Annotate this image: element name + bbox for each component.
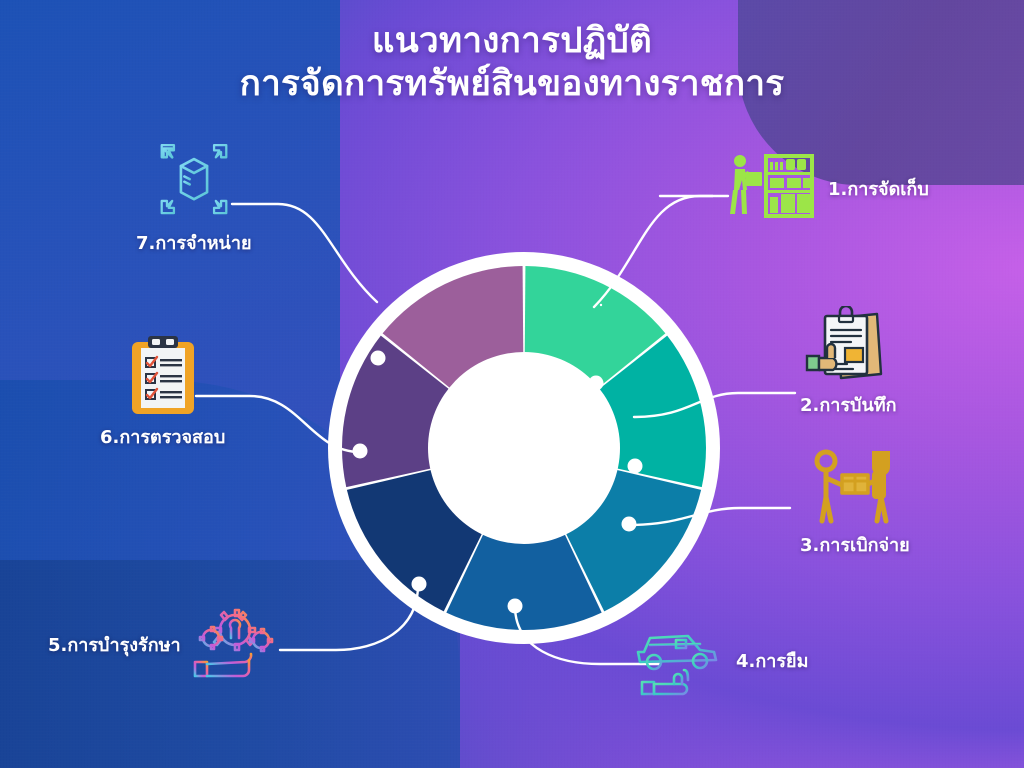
step-node-6[interactable]: 6.การตรวจสอบ [100, 336, 225, 451]
step-node-1[interactable]: 1.การจัดเก็บ [724, 148, 929, 228]
step-node-3[interactable]: 3.การเบิกจ่าย [800, 446, 910, 559]
car-hand-borrow-icon [630, 620, 726, 700]
dot-step-1 [589, 376, 604, 391]
clipboard-document-hand-icon [800, 306, 896, 386]
dot-step-6 [353, 444, 368, 459]
step-node-7[interactable]: 7.การจำหน่าย [136, 140, 252, 257]
box-arrows-distribute-icon [146, 140, 242, 220]
dot-step-3 [622, 517, 637, 532]
warehouse-shelf-icon [724, 148, 820, 228]
dot-step-7 [371, 351, 386, 366]
step-node-4[interactable]: 4.การยืม [630, 620, 808, 700]
title-line-1: แนวทางการปฏิบัติ [0, 20, 1024, 63]
dot-step-5 [412, 577, 427, 592]
page-title: แนวทางการปฏิบัติ การจัดการทรัพย์สินของทา… [0, 20, 1024, 105]
step-label-4: 4.การยืม [736, 646, 808, 675]
step-label-3: 3.การเบิกจ่าย [800, 530, 910, 559]
step-label-2: 2.การบันทึก [800, 390, 897, 419]
title-line-2: การจัดการทรัพย์สินของทางราชการ [0, 63, 1024, 106]
step-node-2[interactable]: 2.การบันทึก [800, 306, 897, 419]
infographic-canvas: แนวทางการปฏิบัติ การจัดการทรัพย์สินของทา… [0, 0, 1024, 768]
step-label-6: 6.การตรวจสอบ [100, 422, 225, 451]
handover-box-people-icon [807, 446, 903, 526]
step-node-5[interactable]: 5.การบำรุงรักษา [48, 604, 283, 684]
dot-step-4 [508, 599, 523, 614]
step-label-1: 1.การจัดเก็บ [828, 174, 929, 203]
step-label-7: 7.การจำหน่าย [136, 228, 252, 257]
gears-wrench-hand-icon [187, 604, 283, 684]
step-label-5: 5.การบำรุงรักษา [48, 630, 181, 659]
checklist-clipboard-icon [115, 336, 211, 416]
process-donut-chart [324, 248, 724, 648]
dot-step-2 [628, 459, 643, 474]
